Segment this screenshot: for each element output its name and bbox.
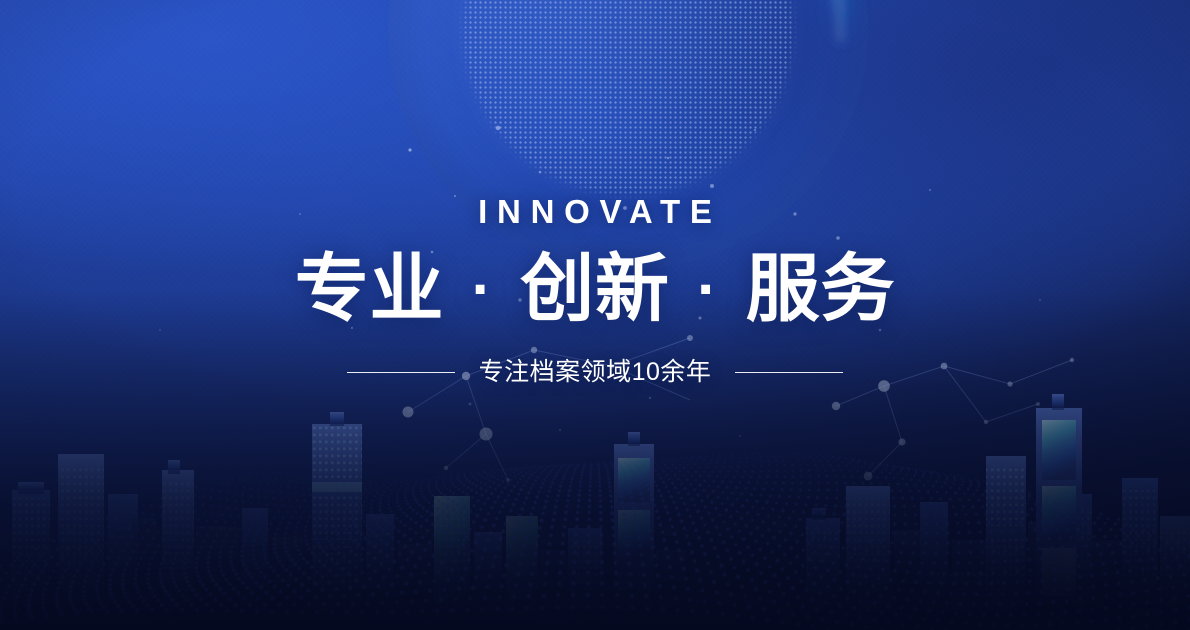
hero-banner: INNOVATE 专业 · 创新 · 服务 专注档案领域10余年 <box>0 0 1190 630</box>
eyebrow-text: INNOVATE <box>468 195 721 228</box>
headline-part-1: 专业 <box>295 247 444 330</box>
headline-separator-1: · <box>466 259 499 321</box>
headline-separator-2: · <box>691 259 724 321</box>
headline-part-3: 服务 <box>746 247 895 330</box>
subtitle-text: 专注档案领域10余年 <box>479 360 712 385</box>
hero-content: INNOVATE 专业 · 创新 · 服务 专注档案领域10余年 <box>0 0 1190 630</box>
subtitle-row: 专注档案领域10余年 <box>347 360 844 385</box>
page-title: 专业 · 创新 · 服务 <box>295 252 895 326</box>
divider-line-left <box>347 372 455 373</box>
divider-line-right <box>735 372 843 373</box>
headline-part-2: 创新 <box>520 247 669 330</box>
